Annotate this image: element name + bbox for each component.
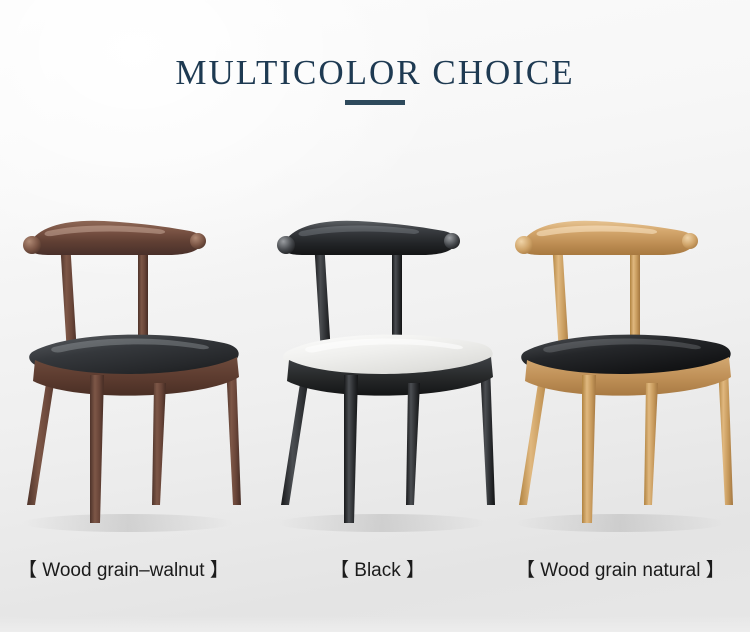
backrest-end-cap-right xyxy=(444,233,460,249)
banner-header: MULTICOLOR CHOICE xyxy=(0,0,750,120)
chair-front-right-leg xyxy=(406,383,420,505)
chair-rear-right-leg xyxy=(718,365,733,505)
chair-front-right-leg xyxy=(644,383,658,505)
chair-front-left-leg xyxy=(582,375,596,523)
product-caption-black: 【 Black 】 xyxy=(330,558,425,584)
chair-backrest xyxy=(277,221,460,255)
chair-rear-right-leg xyxy=(480,365,495,505)
page-title: MULTICOLOR CHOICE xyxy=(0,52,750,94)
backrest-end-cap-right xyxy=(190,233,206,249)
product-image-black-chair[interactable] xyxy=(262,205,512,535)
chair-rear-right-leg xyxy=(226,365,241,505)
chair-front-left-leg xyxy=(344,375,358,523)
backrest-end-cap-left xyxy=(23,236,41,254)
chair-front-left-leg xyxy=(90,375,104,523)
product-image-natural-chair[interactable] xyxy=(500,205,750,535)
chair-floor-shadow xyxy=(23,514,233,532)
product-caption-natural: 【 Wood grain natural 】 xyxy=(516,558,725,584)
chair-front-right-leg xyxy=(152,383,166,505)
backrest-end-cap-right xyxy=(682,233,698,249)
product-caption-walnut: 【 Wood grain–walnut 】 xyxy=(18,558,229,584)
product-image-walnut-chair[interactable] xyxy=(8,205,258,535)
chair-floor-shadow xyxy=(277,514,487,532)
chair-backrest xyxy=(23,221,206,255)
chair-backrest xyxy=(515,221,698,255)
title-underline-rule xyxy=(345,100,405,105)
floor-highlight-strip xyxy=(0,616,750,632)
backrest-end-cap-left xyxy=(277,236,295,254)
backrest-end-cap-left xyxy=(515,236,533,254)
product-color-variants-banner: MULTICOLOR CHOICE xyxy=(0,0,750,632)
chair-floor-shadow xyxy=(515,514,725,532)
